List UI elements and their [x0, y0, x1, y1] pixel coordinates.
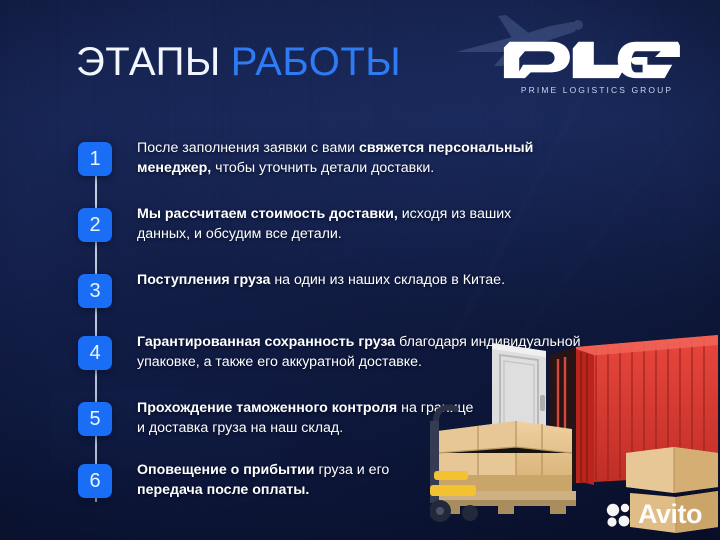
step-text-1: После заполнения заявки с вами свяжется …	[137, 138, 533, 178]
step-2-line-1: Мы рассчитаем стоимость доставки, исходя…	[137, 204, 511, 224]
step-text-5: Прохождение таможенного контроля на гран…	[137, 398, 473, 438]
step-6-line-2: передача после оплаты.	[137, 480, 389, 500]
emphasis-text: Оповещение о прибытии	[137, 462, 315, 478]
plain-text: на границе	[397, 400, 473, 416]
plain-text: После заполнения заявки с вами	[137, 140, 359, 156]
page-title-part-one: ЭТАПЫ	[76, 40, 221, 84]
avito-watermark: Avito	[606, 501, 702, 528]
step-text-6: Оповещение о прибытии груза и егопередач…	[137, 460, 389, 500]
step-text-2: Мы рассчитаем стоимость доставки, исходя…	[137, 204, 511, 244]
step-badge-1: 1	[78, 142, 112, 176]
step-1-line-1: После заполнения заявки с вами свяжется …	[137, 138, 533, 158]
emphasis-text: передача после оплаты.	[137, 482, 309, 498]
plain-text: и доставка груза на наш склад.	[137, 420, 343, 436]
step-4-line-2: упаковке, а также его аккуратной доставк…	[137, 352, 581, 372]
avito-wordmark: Avito	[638, 501, 702, 528]
step-text-3: Поступления груза на один из наших склад…	[137, 270, 505, 290]
plain-text: на один из наших складов в Китае.	[270, 272, 505, 288]
step-badge-6: 6	[78, 464, 112, 498]
step-badge-3: 3	[78, 274, 112, 308]
timeline-rail	[95, 154, 97, 502]
brand-logo: PRIME LOGISTICS GROUP	[502, 36, 692, 95]
emphasis-text: Мы рассчитаем стоимость доставки,	[137, 206, 398, 222]
step-badge-5: 5	[78, 402, 112, 436]
plain-text: благодаря индивидуальной	[395, 334, 580, 350]
step-5-line-2: и доставка груза на наш склад.	[137, 418, 473, 438]
plain-text: данных, и обсудим все детали.	[137, 226, 342, 242]
step-6-line-1: Оповещение о прибытии груза и его	[137, 460, 389, 480]
emphasis-text: свяжется персональный	[359, 140, 533, 156]
step-4-line-1: Гарантированная сохранность груза благод…	[137, 332, 581, 352]
step-3-line-1: Поступления груза на один из наших склад…	[137, 270, 505, 290]
plg-logo-icon	[502, 36, 684, 80]
step-5-line-1: Прохождение таможенного контроля на гран…	[137, 398, 473, 418]
plain-text: чтобы уточнить детали доставки.	[211, 160, 434, 176]
emphasis-text: Гарантированная сохранность груза	[137, 334, 395, 350]
promo-banner: ЭТАПЫРАБОТЫ PRIME LOGISTICS GROUP 1После…	[0, 0, 720, 540]
step-badge-4: 4	[78, 336, 112, 370]
step-2-line-2: данных, и обсудим все детали.	[137, 224, 511, 244]
page-title-part-two: РАБОТЫ	[231, 40, 401, 84]
brand-logo-subtitle: PRIME LOGISTICS GROUP	[502, 85, 692, 95]
step-badge-2: 2	[78, 208, 112, 242]
page-title: ЭТАПЫРАБОТЫ	[76, 42, 401, 82]
step-text-4: Гарантированная сохранность груза благод…	[137, 332, 581, 372]
emphasis-text: менеджер,	[137, 160, 211, 176]
plain-text: груза и его	[315, 462, 390, 478]
emphasis-text: Поступления груза	[137, 272, 270, 288]
avito-dots-icon	[606, 502, 632, 528]
emphasis-text: Прохождение таможенного контроля	[137, 400, 397, 416]
step-1-line-2: менеджер, чтобы уточнить детали доставки…	[137, 158, 533, 178]
plain-text: упаковке, а также его аккуратной доставк…	[137, 354, 422, 370]
plain-text: исходя из ваших	[398, 206, 511, 222]
